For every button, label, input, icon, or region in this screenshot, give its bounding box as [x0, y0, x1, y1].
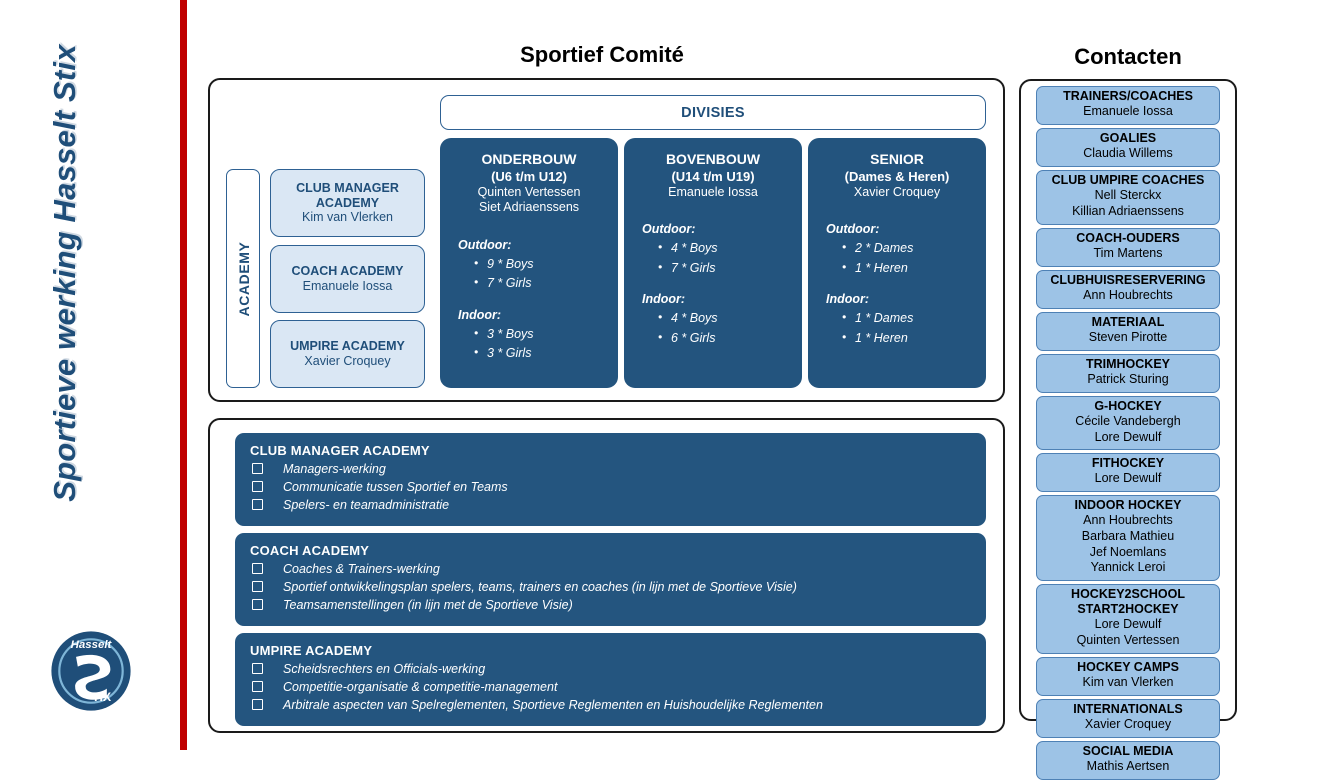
- academy-chip-person: Kim van Vlerken: [302, 210, 393, 225]
- academy-chip-title: CLUB MANAGER ACADEMY: [271, 181, 424, 211]
- contact-chip-person: Quinten Vertessen: [1037, 633, 1219, 649]
- group-item: 9 * Boys: [474, 255, 618, 274]
- division-head: SENIOR (Dames & Heren) Xavier Croquey: [808, 138, 986, 200]
- contact-chip-person: Lore Dewulf: [1037, 430, 1219, 446]
- division-group-outdoor: Outdoor: 9 * Boys 7 * Girls: [458, 238, 618, 294]
- division-age: (U14 t/m U19): [624, 169, 802, 185]
- group-item: 1 * Dames: [842, 309, 986, 328]
- academy-panel-item: Arbitrale aspecten van Spelreglementen, …: [244, 697, 986, 715]
- contact-chip-person: Steven Pirotte: [1037, 330, 1219, 346]
- academy-chip-club-manager[interactable]: CLUB MANAGER ACADEMY Kim van Vlerken: [270, 169, 425, 237]
- contact-chip-person: Lore Dewulf: [1037, 471, 1219, 487]
- contact-chip-title: TRIMHOCKEY: [1037, 357, 1219, 372]
- item-text: Competitie-organisatie & competitie-mana…: [283, 680, 557, 694]
- checkbox-icon: [252, 499, 263, 510]
- division-group-outdoor: Outdoor: 2 * Dames 1 * Heren: [826, 222, 986, 278]
- contact-chip[interactable]: INTERNATIONALSXavier Croquey: [1036, 699, 1220, 738]
- contact-chip-person: Cécile Vandebergh: [1037, 414, 1219, 430]
- contact-chip-title: CLUBHUISRESERVERING: [1037, 273, 1219, 288]
- contacten-heading: Contacten: [1020, 44, 1236, 70]
- hasselt-stix-logo: Hasselt TIX: [47, 627, 135, 715]
- item-text: Managers-werking: [283, 462, 386, 476]
- division-card-senior[interactable]: SENIOR (Dames & Heren) Xavier Croquey Ou…: [808, 138, 986, 388]
- academy-panel-item: Communicatie tussen Sportief en Teams: [244, 479, 986, 497]
- group-item: 7 * Girls: [474, 274, 618, 293]
- sportief-comite-heading: Sportief Comité: [400, 42, 804, 68]
- group-item: 7 * Girls: [658, 259, 802, 278]
- checkbox-icon: [252, 563, 263, 574]
- item-text: Arbitrale aspecten van Spelreglementen, …: [283, 698, 823, 712]
- left-title-band: Sportieve werking Hasselt Stix Hasselt T…: [0, 0, 180, 750]
- item-text: Scheidsrechters en Officials-werking: [283, 662, 485, 676]
- contact-chip[interactable]: HOCKEY CAMPSKim van Vlerken: [1036, 657, 1220, 696]
- academy-panel-item: Teamsamenstellingen (in lijn met de Spor…: [244, 597, 986, 615]
- division-name: BOVENBOUW: [624, 151, 802, 169]
- contact-chip-person: Ann Houbrechts: [1037, 288, 1219, 304]
- division-person: Emanuele Iossa: [624, 185, 802, 201]
- academy-panel-title: COACH ACADEMY: [250, 543, 986, 558]
- academy-vertical-label: ACADEMY: [226, 169, 260, 388]
- group-item: 6 * Girls: [658, 329, 802, 348]
- contact-chip-title: HOCKEY CAMPS: [1037, 660, 1219, 675]
- academy-panel-title: CLUB MANAGER ACADEMY: [250, 443, 986, 458]
- contact-chip-person: Jef Noemlans: [1037, 545, 1219, 561]
- contact-chip-title: COACH-OUDERS: [1037, 231, 1219, 246]
- contact-chip[interactable]: CLUB UMPIRE COACHESNell SterckxKillian A…: [1036, 170, 1220, 225]
- group-item: 1 * Heren: [842, 259, 986, 278]
- academy-label-text: ACADEMY: [236, 169, 252, 389]
- group-item: 3 * Boys: [474, 325, 618, 344]
- checkbox-icon: [252, 481, 263, 492]
- divisies-header: DIVISIES: [440, 95, 986, 130]
- checkbox-icon: [252, 681, 263, 692]
- contact-chip-title: TRAINERS/COACHES: [1037, 89, 1219, 104]
- checkbox-icon: [252, 599, 263, 610]
- academy-panel-club-manager[interactable]: CLUB MANAGER ACADEMY Managers-werking Co…: [235, 433, 986, 526]
- group-label: Indoor:: [826, 292, 986, 306]
- checkbox-icon: [252, 463, 263, 474]
- contact-chip-person: Mathis Aertsen: [1037, 759, 1219, 775]
- contact-chip-person: Killian Adriaenssens: [1037, 204, 1219, 220]
- contact-chip-title: CLUB UMPIRE COACHES: [1037, 173, 1219, 188]
- contact-chip-title: GOALIES: [1037, 131, 1219, 146]
- contact-chip[interactable]: G-HOCKEYCécile VandeberghLore Dewulf: [1036, 396, 1220, 451]
- contact-chip-person: Barbara Mathieu: [1037, 529, 1219, 545]
- contact-chip-person: Emanuele Iossa: [1037, 104, 1219, 120]
- group-item: 3 * Girls: [474, 344, 618, 363]
- academy-panel-item: Sportief ontwikkelingsplan spelers, team…: [244, 579, 986, 597]
- contact-chip[interactable]: TRAINERS/COACHESEmanuele Iossa: [1036, 86, 1220, 125]
- academy-chip-coach[interactable]: COACH ACADEMY Emanuele Iossa: [270, 245, 425, 313]
- group-label: Outdoor:: [458, 238, 618, 252]
- contact-chip-person: Xavier Croquey: [1037, 717, 1219, 733]
- group-label: Outdoor:: [642, 222, 802, 236]
- contact-chip[interactable]: CLUBHUISRESERVERINGAnn Houbrechts: [1036, 270, 1220, 309]
- contact-chip-person: Tim Martens: [1037, 246, 1219, 262]
- academy-panel-umpire[interactable]: UMPIRE ACADEMY Scheidsrechters en Offici…: [235, 633, 986, 726]
- contact-chip-title: INDOOR HOCKEY: [1037, 498, 1219, 513]
- division-person: Xavier Croquey: [808, 185, 986, 201]
- division-age: (U6 t/m U12): [440, 169, 618, 185]
- division-head: ONDERBOUW (U6 t/m U12) Quinten Vertessen…: [440, 138, 618, 216]
- academy-panel-title: UMPIRE ACADEMY: [250, 643, 986, 658]
- academy-panel-item: Scheidsrechters en Officials-werking: [244, 661, 986, 679]
- group-item: 4 * Boys: [658, 239, 802, 258]
- division-groups: Outdoor: 2 * Dames 1 * Heren Indoor: 1 *…: [808, 200, 986, 348]
- contact-chip[interactable]: INDOOR HOCKEYAnn HoubrechtsBarbara Mathi…: [1036, 495, 1220, 581]
- division-age: (Dames & Heren): [808, 169, 986, 185]
- svg-text:TIX: TIX: [92, 690, 112, 704]
- academy-panel-coach[interactable]: COACH ACADEMY Coaches & Trainers-werking…: [235, 533, 986, 626]
- contact-chip-person: Nell Sterckx: [1037, 188, 1219, 204]
- checkbox-icon: [252, 663, 263, 674]
- group-label: Indoor:: [458, 308, 618, 322]
- contact-chip[interactable]: GOALIESClaudia Willems: [1036, 128, 1220, 167]
- contact-chip-person: Claudia Willems: [1037, 146, 1219, 162]
- division-person: Quinten Vertessen: [440, 185, 618, 201]
- division-group-outdoor: Outdoor: 4 * Boys 7 * Girls: [642, 222, 802, 278]
- group-label: Outdoor:: [826, 222, 986, 236]
- checkbox-icon: [252, 581, 263, 592]
- division-head: BOVENBOUW (U14 t/m U19) Emanuele Iossa: [624, 138, 802, 200]
- contact-chip[interactable]: HOCKEY2SCHOOLSTART2HOCKEYLore DewulfQuin…: [1036, 584, 1220, 654]
- division-name: SENIOR: [808, 151, 986, 169]
- division-group-indoor: Indoor: 3 * Boys 3 * Girls: [458, 308, 618, 364]
- division-groups: Outdoor: 4 * Boys 7 * Girls Indoor: 4 * …: [624, 200, 802, 348]
- contact-chip-title: MATERIAAL: [1037, 315, 1219, 330]
- academy-chip-person: Emanuele Iossa: [303, 279, 393, 294]
- contact-chip[interactable]: MATERIAALSteven Pirotte: [1036, 312, 1220, 351]
- division-card-onderbouw[interactable]: ONDERBOUW (U6 t/m U12) Quinten Vertessen…: [440, 138, 618, 388]
- contact-chip-person: Lore Dewulf: [1037, 617, 1219, 633]
- group-item: 2 * Dames: [842, 239, 986, 258]
- contact-chip-title: INTERNATIONALS: [1037, 702, 1219, 717]
- contact-chip[interactable]: SOCIAL MEDIAMathis Aertsen: [1036, 741, 1220, 780]
- contact-chip[interactable]: COACH-OUDERSTim Martens: [1036, 228, 1220, 267]
- item-text: Teamsamenstellingen (in lijn met de Spor…: [283, 598, 573, 612]
- contact-chip-person: Ann Houbrechts: [1037, 513, 1219, 529]
- academy-panel-item: Competitie-organisatie & competitie-mana…: [244, 679, 986, 697]
- svg-text:Hasselt: Hasselt: [71, 639, 113, 651]
- academy-chip-umpire[interactable]: UMPIRE ACADEMY Xavier Croquey: [270, 320, 425, 388]
- contact-chip[interactable]: FITHOCKEYLore Dewulf: [1036, 453, 1220, 492]
- contact-chip-title: HOCKEY2SCHOOL: [1037, 587, 1219, 602]
- group-label: Indoor:: [642, 292, 802, 306]
- group-item: 4 * Boys: [658, 309, 802, 328]
- page-title: Sportieve werking Hasselt Stix: [47, 0, 83, 553]
- red-accent-stripe: [180, 0, 187, 750]
- contact-chip-title: FITHOCKEY: [1037, 456, 1219, 471]
- group-item: 1 * Heren: [842, 329, 986, 348]
- item-text: Coaches & Trainers-werking: [283, 562, 440, 576]
- contact-chip-person: Kim van Vlerken: [1037, 675, 1219, 691]
- division-group-indoor: Indoor: 1 * Dames 1 * Heren: [826, 292, 986, 348]
- division-group-indoor: Indoor: 4 * Boys 6 * Girls: [642, 292, 802, 348]
- division-card-bovenbouw[interactable]: BOVENBOUW (U14 t/m U19) Emanuele Iossa O…: [624, 138, 802, 388]
- division-groups: Outdoor: 9 * Boys 7 * Girls Indoor: 3 * …: [440, 216, 618, 364]
- division-name: ONDERBOUW: [440, 151, 618, 169]
- academy-chip-title: UMPIRE ACADEMY: [290, 339, 405, 354]
- academy-panel-item: Coaches & Trainers-werking: [244, 561, 986, 579]
- item-text: Spelers- en teamadministratie: [283, 498, 449, 512]
- contact-chip-title: G-HOCKEY: [1037, 399, 1219, 414]
- academy-panel-item: Spelers- en teamadministratie: [244, 497, 986, 515]
- item-text: Communicatie tussen Sportief en Teams: [283, 480, 508, 494]
- contact-chip[interactable]: TRIMHOCKEYPatrick Sturing: [1036, 354, 1220, 393]
- division-person: Siet Adriaenssens: [440, 200, 618, 216]
- contact-chip-person: Patrick Sturing: [1037, 372, 1219, 388]
- contact-chip-person: Yannick Leroi: [1037, 560, 1219, 576]
- academy-chip-person: Xavier Croquey: [304, 354, 390, 369]
- checkbox-icon: [252, 699, 263, 710]
- academy-panel-item: Managers-werking: [244, 461, 986, 479]
- contact-chip-title: SOCIAL MEDIA: [1037, 744, 1219, 759]
- item-text: Sportief ontwikkelingsplan spelers, team…: [283, 580, 797, 594]
- academy-chip-title: COACH ACADEMY: [291, 264, 403, 279]
- contact-chip-title: START2HOCKEY: [1037, 602, 1219, 617]
